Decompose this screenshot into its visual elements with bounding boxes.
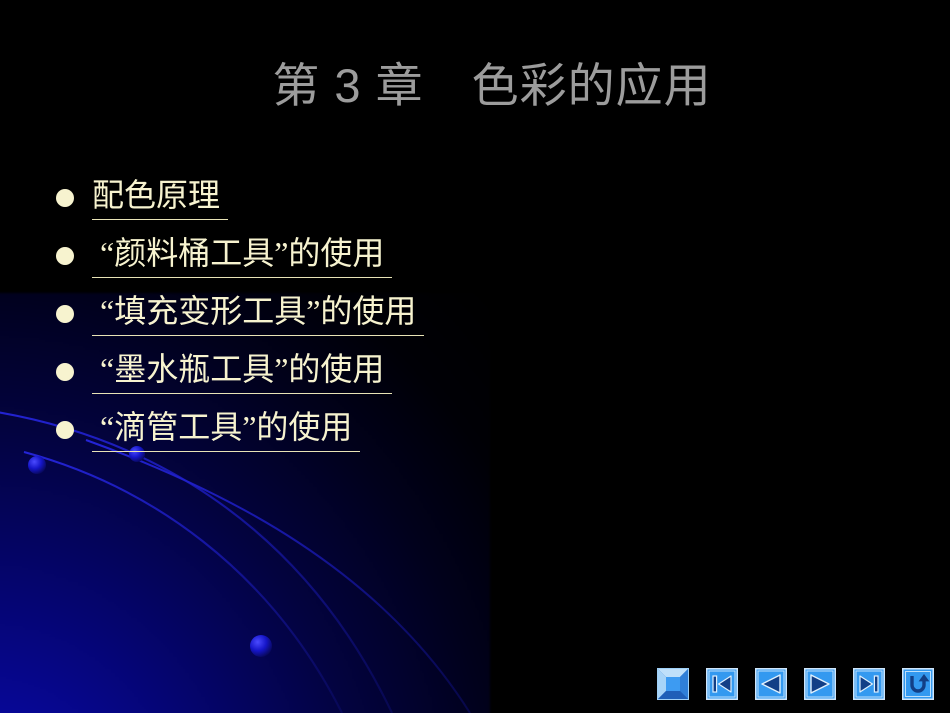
play-forward-icon [804, 668, 836, 700]
bullet-list: 配色原理 “颜料桶工具”的使用 “填充变形工具”的使用 “墨水瓶工具”的使用 “… [56, 172, 916, 462]
skip-back-icon [706, 668, 738, 700]
show-slide-button[interactable] [657, 668, 689, 700]
slide-navigation-bar [657, 668, 934, 700]
slide-title: 第 3 章 色彩的应用 [0, 56, 950, 116]
list-item[interactable]: “滴管工具”的使用 [56, 404, 916, 462]
bullet-dot-icon [56, 421, 74, 439]
play-back-icon [755, 668, 787, 700]
bullet-dot-icon [56, 363, 74, 381]
list-item[interactable]: “颜料桶工具”的使用 [56, 230, 916, 288]
list-item[interactable]: “墨水瓶工具”的使用 [56, 346, 916, 404]
list-item[interactable]: 配色原理 [56, 172, 916, 230]
next-slide-button[interactable] [804, 668, 836, 700]
list-item-label[interactable]: 配色原理 [92, 172, 228, 220]
bullet-dot-icon [56, 247, 74, 265]
return-button[interactable] [902, 668, 934, 700]
u-turn-arrow-icon [902, 668, 934, 700]
list-item-label[interactable]: “滴管工具”的使用 [92, 404, 360, 452]
list-item-label[interactable]: “墨水瓶工具”的使用 [92, 346, 392, 394]
presentation-slide: 第 3 章 色彩的应用 配色原理 “颜料桶工具”的使用 “填充变形工具”的使用 … [0, 0, 950, 713]
last-slide-button[interactable] [853, 668, 885, 700]
first-slide-button[interactable] [706, 668, 738, 700]
previous-slide-button[interactable] [755, 668, 787, 700]
bullet-dot-icon [56, 189, 74, 207]
skip-forward-icon [853, 668, 885, 700]
window-frame-icon [657, 668, 689, 700]
bullet-dot-icon [56, 305, 74, 323]
list-item-label[interactable]: “填充变形工具”的使用 [92, 288, 424, 336]
list-item-label[interactable]: “颜料桶工具”的使用 [92, 230, 392, 278]
list-item[interactable]: “填充变形工具”的使用 [56, 288, 916, 346]
